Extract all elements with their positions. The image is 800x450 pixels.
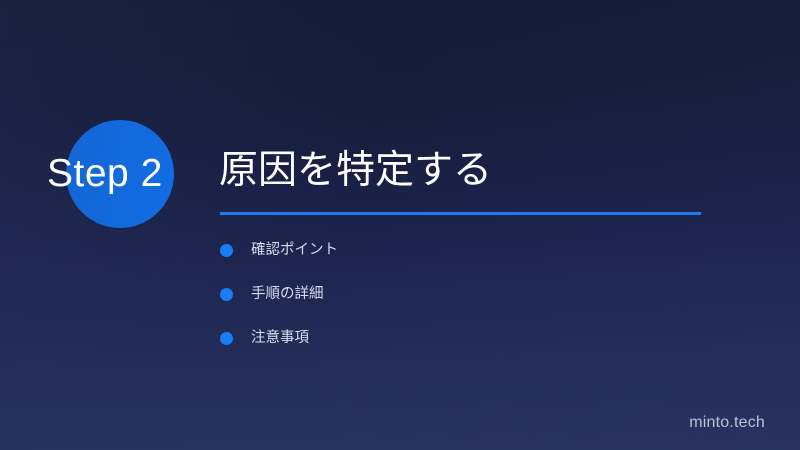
bullet-item-label: 注意事項 xyxy=(251,330,309,346)
step-badge-label: Step 2 xyxy=(47,152,163,196)
list-item: 手順の詳細 xyxy=(220,286,338,302)
watermark-label: minto.tech xyxy=(689,413,765,433)
slide-title: 原因を特定する xyxy=(219,148,492,194)
list-item: 確認ポイント xyxy=(220,242,338,258)
bullet-list: 確認ポイント 手順の詳細 注意事項 xyxy=(220,242,338,346)
bullet-item-label: 手順の詳細 xyxy=(251,286,324,302)
list-item: 注意事項 xyxy=(220,330,338,346)
bullet-item-label: 確認ポイント xyxy=(251,242,338,258)
bullet-dot-icon xyxy=(220,332,233,345)
bullet-dot-icon xyxy=(220,288,233,301)
bullet-dot-icon xyxy=(220,244,233,257)
slide-canvas: Step 2 原因を特定する 確認ポイント 手順の詳細 注意事項 minto.t… xyxy=(0,0,800,450)
title-divider xyxy=(220,212,701,215)
